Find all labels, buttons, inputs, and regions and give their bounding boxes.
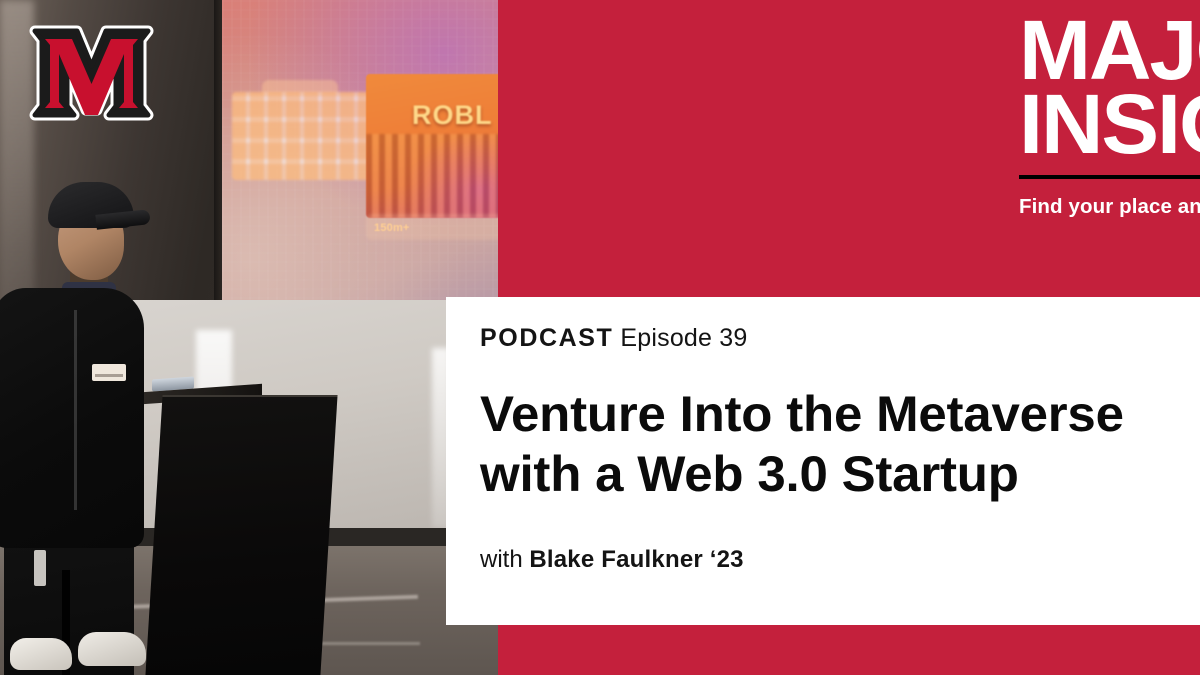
footer-red-strip bbox=[498, 625, 1200, 675]
episode-guest-prefix: with bbox=[480, 546, 523, 573]
photo-speaker-shoe-right bbox=[78, 632, 146, 666]
photo-slide-roblox-panel: ROBL bbox=[366, 74, 498, 218]
brand-divider-rule bbox=[1019, 175, 1200, 179]
photo-speaker-hoodie bbox=[0, 288, 144, 548]
photo-speaker-shoe-left bbox=[10, 638, 72, 670]
episode-info-card: PODCAST Episode 39 Venture Into the Meta… bbox=[446, 297, 1200, 625]
episode-title-line-2: with a Web 3.0 Startup bbox=[480, 445, 1194, 505]
episode-title-line-1: Venture Into the Metaverse bbox=[480, 385, 1194, 445]
photo-speaker-figure bbox=[0, 170, 160, 675]
brand-lockup: MAJOR INSIGHT Find your place and purpos… bbox=[1019, 14, 1200, 219]
episode-guest-name: Blake Faulkner ‘23 bbox=[529, 546, 743, 573]
episode-number: Episode 39 bbox=[620, 324, 747, 352]
photo-slide-thumbnail-grid bbox=[232, 92, 380, 180]
photo-slide-roblox-wordmark: ROBL bbox=[412, 100, 493, 131]
photo-speaker-hoodie-zipper bbox=[74, 310, 77, 510]
photo-speaker-hoodie-logo-patch bbox=[92, 364, 126, 381]
episode-eyebrow: PODCAST Episode 39 bbox=[480, 324, 748, 353]
brand-header-band: MAJOR INSIGHT Find your place and purpos… bbox=[498, 0, 1200, 297]
episode-kicker: PODCAST bbox=[480, 324, 613, 352]
photo-podium bbox=[145, 395, 337, 675]
photo-speaker-lanyard bbox=[34, 550, 46, 586]
miami-university-m-logo-icon bbox=[29, 14, 154, 130]
brand-tagline: Find your place and purpose on campus bbox=[1019, 195, 1200, 219]
episode-title: Venture Into the Metaverse with a Web 3.… bbox=[480, 385, 1194, 504]
photo-slide-caption: 150m+ bbox=[374, 222, 410, 234]
episode-guest: with Blake Faulkner ‘23 bbox=[480, 546, 744, 574]
brand-title-line-2: INSIGHT bbox=[1019, 88, 1200, 162]
podcast-episode-card: ROBL 150m+ bbox=[0, 0, 1200, 675]
